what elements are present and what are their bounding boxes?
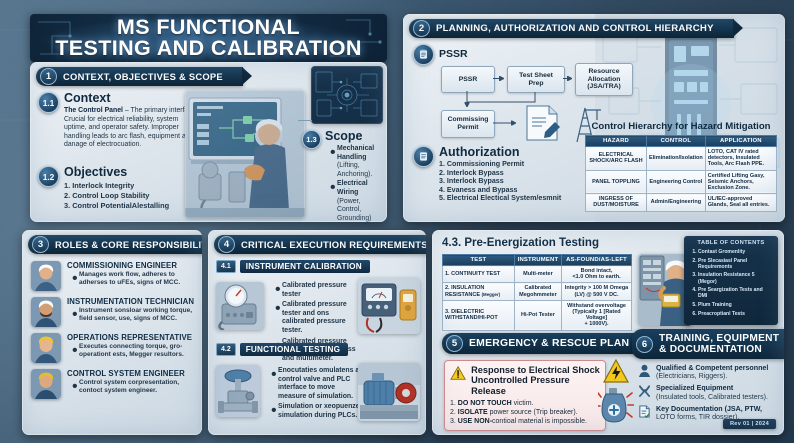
high-voltage-hazard-icon (602, 358, 630, 384)
role-row: OPERATIONS REPRESENTATIVE Executes conne… (31, 333, 195, 363)
alert-title-line-1: Response to Electrical Shock (471, 365, 600, 375)
col-test: TEST (443, 255, 515, 266)
step-rest: power source (Trip breaker). (488, 409, 578, 416)
technician-white-helmet-avatar (31, 297, 61, 327)
subsection-4-2-number: 4.2 (216, 343, 236, 356)
col-control: CONTROL (646, 136, 705, 147)
subsection-4-2-heading: FUNCTIONAL TESTING (240, 343, 348, 356)
functional-testing-item: Enocutaties omulatens a control valve an… (278, 367, 363, 401)
alert-title-line-2: Uncontrolled Pressure Release (471, 375, 600, 396)
test-name: DIELECTRIC WITHSTAND/HI-POT (445, 309, 498, 321)
plc-schematic-illustration (311, 66, 383, 124)
role-row: INSTRUMENTATION TECHNICIAN Instrument so… (31, 297, 195, 327)
table-header-row: TEST INSTRUMENT AS-FOUND/AS-LEFT (443, 255, 632, 266)
engineer-white-helmet-avatar (31, 261, 61, 291)
section-6-heading-line-1: TRAINING, EQUIPMENT (659, 333, 779, 344)
authorization-item: 3. Interlock Bypass (439, 177, 588, 186)
training-item-sub: (Electricians, Riggers). (656, 372, 768, 380)
cell-application: UL/IEC-approved Glands, Seal all entries… (705, 194, 776, 211)
step-bold: DO NOT TOUCH (458, 400, 512, 407)
section-3-header: 3 ROLES & CORE RESPONSIBILITIES (28, 234, 202, 254)
control-engineer-yellow-helmet-avatar (31, 369, 61, 399)
hmi-operator-image (185, 90, 305, 218)
step-number: 3. (450, 418, 456, 425)
section-3-heading: ROLES & CORE RESPONSIBILITIES (55, 239, 202, 250)
section-4-panel: 4 CRITICAL EXECUTION REQUIREMENTS 4.1 IN… (208, 230, 426, 435)
cell-result: Integrity > 100 M Omega (LV) @ 500 V DC. (562, 283, 632, 300)
emergency-alert-box: Response to Electrical Shock Uncontrolle… (444, 360, 606, 431)
col-application: APPLICATION (705, 136, 776, 147)
section-3-number: 3 (32, 236, 49, 253)
subsection-4-2-header: 4.2 FUNCTIONAL TESTING (216, 343, 348, 356)
document-check-icon (638, 405, 651, 418)
cell-instrument: Multi-meter (514, 266, 561, 283)
section-4-header: 4 CRITICAL EXECUTION REQUIREMENTS (214, 234, 426, 254)
scope-item-sub: (Power, Control, Grounding) (337, 198, 384, 222)
tools-icon (638, 384, 651, 397)
control-hierarchy-table: HAZARD CONTROL APPLICATION ELECTRICAL SH… (585, 135, 777, 212)
cell-test: 3. DIELECTRIC WITHSTAND/HI-POT (443, 300, 515, 330)
cell-result: Bond intact, <1.0 Ohm to earth. (562, 266, 632, 283)
control-hierarchy-block: Control Hierarchy for Hazard Mitigation … (585, 121, 777, 212)
role-title: COMMISSIONING ENGINEER (67, 261, 195, 270)
role-title: CONTROL SYSTEM ENGINEER (67, 369, 195, 378)
table-row: PANEL TOPPLING Engineering Control Certi… (586, 170, 777, 194)
section-1-heading: CONTEXT, OBJECTIVES & SCOPE (63, 71, 223, 82)
col-hazard: HAZARD (586, 136, 647, 147)
step-rest: contioal material is impossible. (492, 418, 587, 425)
section-6-number: 6 (636, 336, 653, 353)
subsection-4-1-number: 4.1 (216, 260, 236, 273)
role-desc: Control system corpresentation, contoct … (79, 379, 195, 394)
subsection-1-1-context: 1.1 Context The Control Panel – The prim… (38, 92, 198, 150)
revision-badge: Rev 01 | 2024 (723, 419, 776, 429)
motor-test-bench-image (358, 363, 420, 421)
step-bold: USE NON- (458, 418, 492, 425)
toc-item[interactable]: Pre Slecasiasl Panel Requiremonts (698, 258, 773, 270)
page-title: MS FUNCTIONAL TESTING AND CALIBRATION (30, 14, 387, 62)
insulation-tester-multimeter-image (358, 278, 420, 334)
section-4-heading: CRITICAL EXECUTION REQUIREMENTS (241, 239, 426, 250)
emergency-step: 3. USE NON-contioal material is impossib… (450, 417, 600, 426)
subsection-4-1-header: 4.1 INSTRUMENT CALIBRATION (216, 260, 370, 273)
step-bold: ISOLATE (458, 409, 488, 416)
section-2-panel: 2 PLANNING, AUTHORIZATION AND CONTROL HI… (403, 14, 785, 222)
gas-cylinder-release-icon (598, 385, 634, 427)
warning-triangle-icon (450, 365, 466, 381)
subsection-1-3-scope: 1.3 Scope Mechanical Handling (Lifting, … (302, 130, 384, 222)
authorization-item: 5. Electrical Electical System/esmnit (439, 194, 588, 203)
step-rest: victim. (512, 400, 534, 407)
test-name-sub: (Megger) (482, 292, 501, 297)
section-5-number: 5 (446, 335, 463, 352)
roles-list: COMMISSIONING ENGINEER Manages work flow… (31, 261, 195, 405)
cell-control: Engineering Control (646, 170, 705, 194)
role-desc: Manages work flow, adheres to adherses t… (79, 271, 195, 286)
subsection-1-2-number: 1.2 (38, 166, 59, 187)
col-as-found-as-left: AS-FOUND/AS-LEFT (562, 255, 632, 266)
functional-testing-item: Simulation or xeopuenze simulation durin… (278, 403, 363, 420)
emergency-step: 1. DO NOT TOUCH victim. (450, 399, 600, 408)
pre-energization-table-wrap: TEST INSTRUMENT AS-FOUND/AS-LEFT 1. CONT… (442, 254, 632, 331)
authorization-block: Authorization 1. Commissioning Permit 2.… (413, 146, 588, 203)
toc-heading: TABLE OF CONTENTS (689, 240, 773, 246)
row-number: 2. (445, 285, 450, 291)
training-equipment-list: Qualified & Competent personnel (Electri… (638, 364, 780, 421)
training-item-bold: Key Documentation (JSA, PTW, (656, 405, 762, 413)
toc-item[interactable]: Contast Gromenlity (698, 249, 773, 255)
table-row: ELECTRICAL SHOCK/ARC FLASH Elimination/I… (586, 147, 777, 171)
section-4-3-heading: 4.3. Pre-Energization Testing (442, 237, 599, 249)
role-desc: Instrument sonsloar working torque, fiel… (79, 307, 195, 322)
cell-hazard: INGRESS OF DUST/MOISTURE (586, 194, 647, 211)
authorization-item: 2. Interlock Bypass (439, 169, 588, 178)
cell-control: Elimination/Isolation (646, 147, 705, 171)
toc-item[interactable]: Plum Training (698, 302, 773, 308)
section-4-3-5-6-panel: 4.3. Pre-Energization Testing TEST INSTR… (432, 230, 784, 435)
cell-test: 1. CONTINUITY TEST (443, 266, 515, 283)
scope-item-label: Mechanical Handling (337, 145, 384, 162)
cell-hazard: ELECTRICAL SHOCK/ARC FLASH (586, 147, 647, 171)
subsection-1-1-number: 1.1 (38, 92, 59, 113)
emergency-step: 2. ISOLATE power source (Trip breaker). (450, 408, 600, 417)
section-6-heading-line-2: & DOCUMENTATION (659, 344, 779, 355)
role-desc: Executes connecting torque, gro-operatio… (79, 343, 195, 358)
scope-item-label: Electrical Wiring (337, 180, 384, 197)
row-number: 3. (445, 309, 450, 315)
objectives-heading: Objectives (64, 166, 198, 179)
test-name: CONTINUITY TEST (451, 271, 500, 277)
training-item-bold: Qualified & Competent personnel (656, 364, 768, 372)
context-body: The Control Panel – The primary interfac… (64, 107, 198, 150)
role-row: COMMISSIONING ENGINEER Manages work flow… (31, 261, 195, 291)
operator-yellow-helmet-avatar (31, 333, 61, 363)
toc-item[interactable]: Pre Seargization Tests and DMI (698, 287, 773, 299)
table-header-row: HAZARD CONTROL APPLICATION (586, 136, 777, 147)
table-of-contents: TABLE OF CONTENTS Contast Gromenlity Pre… (684, 236, 778, 325)
emergency-steps: 1. DO NOT TOUCH victim. 2. ISOLATE power… (450, 399, 600, 426)
context-body-lead: The Control Panel (64, 107, 123, 114)
cell-control: Admin/Engineering (646, 194, 705, 211)
calibration-item: Calibrated pressure tester and ons calib… (282, 301, 363, 335)
role-title: INSTRUMENTATION TECHNICIAN (67, 297, 195, 306)
authorization-item: 4. Evaness and Bypass (439, 186, 588, 195)
calibration-item: Calibrated pressure tester (282, 282, 363, 299)
cell-application: LOTO, CAT IV rated detectors, Insulated … (705, 147, 776, 171)
control-hierarchy-title: Control Hierarchy for Hazard Mitigation (585, 121, 777, 132)
table-row: INGRESS OF DUST/MOISTURE Admin/Engineeri… (586, 194, 777, 211)
title-line-1: MS FUNCTIONAL (55, 17, 362, 38)
col-instrument: INSTRUMENT (514, 255, 561, 266)
cell-result: Withstand overvoltage (Typically 1 [Rate… (562, 300, 632, 330)
section-3-panel: 3 ROLES & CORE RESPONSIBILITIES COMMISSI… (22, 230, 202, 435)
pre-energization-table: TEST INSTRUMENT AS-FOUND/AS-LEFT 1. CONT… (442, 254, 632, 331)
role-title: OPERATIONS REPRESENTATIVE (67, 333, 195, 342)
table-row: 3. DIELECTRIC WITHSTAND/HI-POT Hi-Pot Te… (443, 300, 632, 330)
title-line-2: TESTING AND CALIBRATION (55, 38, 362, 59)
section-5-header: 5 EMERGENCY & RESCUE PLAN (442, 333, 649, 354)
row-number: 1. (445, 271, 450, 277)
scope-item-sub: (Lifting, Anchoring). (337, 162, 384, 179)
functional-testing-list: Enocutaties omulatens a control valve an… (266, 367, 363, 421)
subsection-1-2-objectives: 1.2 Objectives 1. Interlock Integrity 2.… (38, 166, 198, 211)
cell-test: 2. INSULATION RESISTANCE (Megger) (443, 283, 515, 300)
toc-item[interactable]: Insulation Resistance 5 (Megor) (698, 272, 773, 284)
subsection-1-3-number: 1.3 (302, 130, 321, 149)
scope-heading: Scope (325, 130, 384, 143)
section-6-header: 6 TRAINING, EQUIPMENT & DOCUMENTATION .r… (632, 329, 784, 359)
cell-hazard: PANEL TOPPLING (586, 170, 647, 194)
step-number: 2. (450, 409, 456, 416)
connector-line (298, 120, 312, 121)
table-row: 2. INSULATION RESISTANCE (Megger) Calibr… (443, 283, 632, 300)
authorization-item: 1. Commissioning Permit (439, 160, 588, 169)
objective-item: 2. Control Loop Stability (64, 191, 198, 201)
objective-item: 1. Interlock Integrity (64, 181, 198, 191)
subsection-4-1-heading: INSTRUMENT CALIBRATION (240, 260, 370, 273)
person-icon (638, 364, 651, 377)
role-row: CONTROL SYSTEM ENGINEER Control system c… (31, 369, 195, 399)
infographic-canvas: MS FUNCTIONAL TESTING AND CALIBRATION 1 … (0, 0, 794, 443)
section-5-heading: EMERGENCY & RESCUE PLAN (469, 338, 629, 349)
section-1-header: 1 CONTEXT, OBJECTIVES & SCOPE (36, 66, 243, 86)
objective-item: 3. Control PotentialAlestalling (64, 201, 198, 211)
training-item-bold: Specialized Equipment (656, 384, 768, 392)
plc-schematic-inset-image (311, 66, 383, 124)
context-heading: Context (64, 92, 198, 105)
step-number: 1. (450, 400, 456, 407)
section-1-number: 1 (40, 68, 57, 85)
authorization-heading: Authorization (439, 146, 588, 159)
table-row: 1. CONTINUITY TEST Multi-meter Bond inta… (443, 266, 632, 283)
hmi-operator-illustration (185, 90, 305, 218)
training-item-sub: (Insulated tools, Calibrated testers). (656, 393, 768, 401)
test-name: INSULATION RESISTANCE (445, 285, 484, 297)
cell-instrument: Calibrated Megohmmeter (514, 283, 561, 300)
permit-clipboard-icon (413, 146, 434, 167)
cell-instrument: Hi-Pot Tester (514, 300, 561, 330)
toc-item[interactable]: Preacroptianl Tests (698, 311, 773, 317)
control-valve-image (216, 365, 260, 417)
section-4-number: 4 (218, 236, 235, 253)
cell-application: Certified Lifting Gasy, Seismic Anchors,… (705, 170, 776, 194)
section-1-panel: 1 CONTEXT, OBJECTIVES & SCOPE 1.1 Contex… (30, 62, 387, 222)
pressure-calibrator-image (216, 282, 264, 330)
